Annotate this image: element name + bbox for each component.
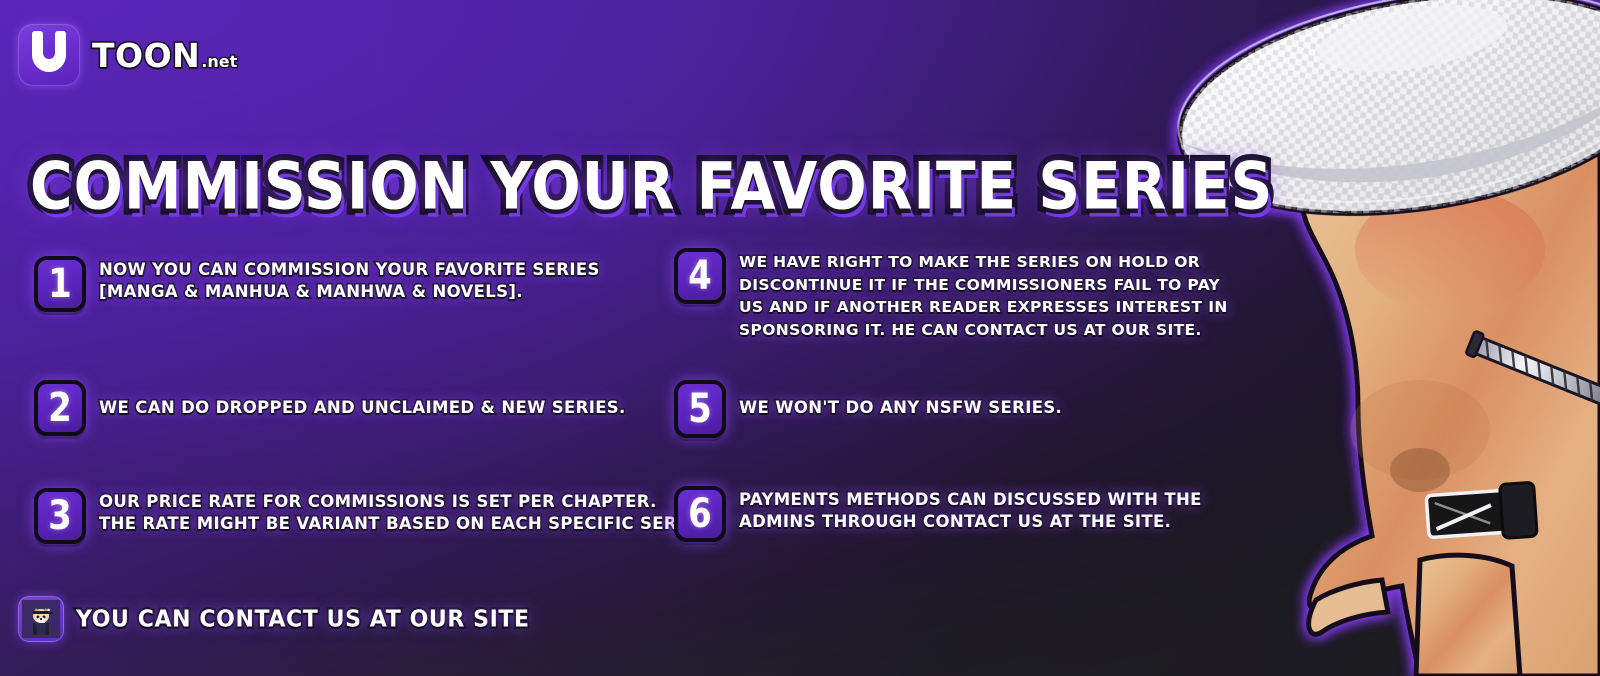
rule-number: 3 (48, 496, 72, 536)
rule-item-5: 5 WE WON'T DO ANY NSFW SERIES. (674, 380, 1062, 438)
rule-number-badge: 2 (34, 380, 86, 436)
rule-item-4: 4 WE HAVE RIGHT TO MAKE THE SERIES ON HO… (674, 248, 1228, 341)
commission-banner: TOON .net COMMISSION YOUR FAVORITE SERIE… (0, 0, 1600, 676)
rule-number: 6 (688, 494, 712, 534)
rule-line: [MANGA & MANHUA & MANHWA & NOVELS]. (99, 281, 600, 303)
rule-line: PAYMENTS METHODS CAN DISCUSSED WITH THE (739, 489, 1202, 511)
rule-line: DISCONTINUE IT IF THE COMMISSIONERS FAIL… (739, 274, 1228, 297)
rule-number-badge: 5 (674, 380, 726, 438)
rule-item-2: 2 WE CAN DO DROPPED AND UNCLAIMED & NEW … (34, 380, 626, 436)
rule-number-badge: 6 (674, 486, 726, 542)
page-title: COMMISSION YOUR FAVORITE SERIES (30, 148, 1273, 224)
rule-number-badge: 4 (674, 248, 726, 304)
contact-footer[interactable]: YOU CAN CONTACT US AT OUR SITE (18, 596, 530, 642)
samurai-shiba-avatar-icon (18, 596, 64, 642)
rule-number: 5 (688, 389, 712, 429)
rule-line: WE CAN DO DROPPED AND UNCLAIMED & NEW SE… (99, 397, 626, 419)
rule-text: PAYMENTS METHODS CAN DISCUSSED WITH THE … (739, 486, 1202, 533)
rule-line: NOW YOU CAN COMMISSION YOUR FAVORITE SER… (99, 259, 600, 281)
rule-text: WE WON'T DO ANY NSFW SERIES. (739, 380, 1062, 419)
rule-item-3: 3 OUR PRICE RATE FOR COMMISSIONS IS SET … (34, 488, 714, 544)
rule-number-badge: 1 (34, 256, 86, 312)
logo-name: TOON (92, 39, 200, 72)
rule-item-1: 1 NOW YOU CAN COMMISSION YOUR FAVORITE S… (34, 256, 600, 312)
rule-number: 4 (688, 256, 712, 296)
logo-wordmark: TOON .net (92, 39, 237, 72)
crescent-u-logo-icon (18, 24, 80, 86)
rule-text: OUR PRICE RATE FOR COMMISSIONS IS SET PE… (99, 488, 714, 535)
rule-text: WE CAN DO DROPPED AND UNCLAIMED & NEW SE… (99, 380, 626, 419)
rule-text: WE HAVE RIGHT TO MAKE THE SERIES ON HOLD… (739, 248, 1228, 341)
rule-line: US AND IF ANOTHER READER EXPRESSES INTER… (739, 296, 1228, 319)
rule-line: OUR PRICE RATE FOR COMMISSIONS IS SET PE… (99, 491, 714, 513)
rule-line: WE HAVE RIGHT TO MAKE THE SERIES ON HOLD… (739, 251, 1228, 274)
rule-line: WE WON'T DO ANY NSFW SERIES. (739, 397, 1062, 419)
contact-text: YOU CAN CONTACT US AT OUR SITE (76, 606, 530, 633)
rule-line: SPONSORING IT. HE CAN CONTACT US AT OUR … (739, 319, 1228, 342)
rule-number: 2 (48, 388, 72, 428)
site-logo[interactable]: TOON .net (18, 24, 237, 86)
rule-number: 1 (48, 264, 72, 304)
rule-number-badge: 3 (34, 488, 86, 544)
rule-text: NOW YOU CAN COMMISSION YOUR FAVORITE SER… (99, 256, 600, 303)
rule-line: THE RATE MIGHT BE VARIANT BASED ON EACH … (99, 513, 714, 535)
rule-line: ADMINS THROUGH CONTACT US AT THE SITE. (739, 511, 1202, 533)
rule-item-6: 6 PAYMENTS METHODS CAN DISCUSSED WITH TH… (674, 486, 1202, 542)
logo-tld: .net (201, 54, 237, 70)
